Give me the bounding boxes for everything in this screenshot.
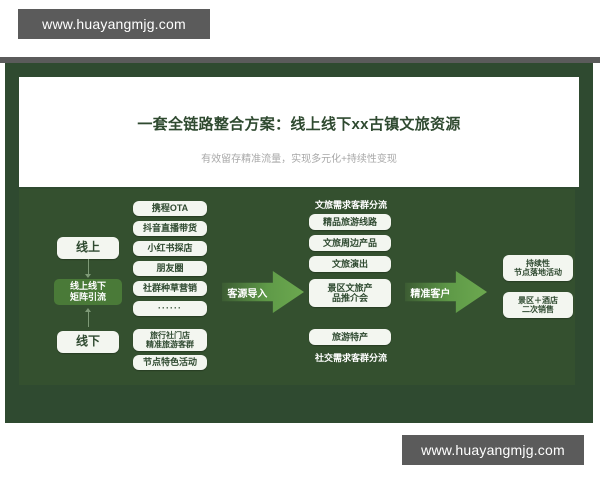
list-item: 景区文旅产 品推介会: [309, 279, 391, 307]
list-item-ellipsis: ······: [133, 301, 207, 316]
connector-offline-arrowhead: [85, 308, 91, 312]
matrix-traffic-box: 线上线下 矩阵引流: [54, 279, 122, 305]
list-item: 文旅周边产品: [309, 235, 391, 251]
arrow-source-import: 客源导入: [222, 271, 304, 313]
list-item: 文旅演出: [309, 256, 391, 272]
social-demand-caption: 社交需求客群分流: [291, 351, 411, 364]
matrix-label-line1: 线上线下: [70, 281, 106, 292]
connector-online-to-matrix: [88, 259, 89, 275]
slide-screenshot: www.huayangmjg.com 一套全链路整合方案：线上线下xx古镇文旅资…: [0, 0, 600, 480]
list-item: 社群种草营销: [133, 281, 207, 296]
list-item: 精品旅游线路: [309, 214, 391, 230]
list-item: 朋友圈: [133, 261, 207, 276]
connector-offline-to-matrix: [88, 311, 89, 327]
watermark-bottom: www.huayangmjg.com: [402, 435, 584, 465]
matrix-label-line2: 矩阵引流: [70, 292, 106, 303]
list-item: 抖音直播带货: [133, 221, 207, 236]
stage-online: 线上: [57, 237, 119, 259]
watermark-top-text: www.huayangmjg.com: [42, 16, 186, 32]
outcome-item: 持续性 节点落地活动: [503, 255, 573, 281]
culture-demand-caption: 文旅需求客群分流: [291, 198, 411, 211]
outcome-item: 景区＋酒店 二次销售: [503, 292, 573, 318]
stage-offline: 线下: [57, 331, 119, 353]
arrow-precise-customer: 精准客户: [405, 271, 487, 313]
watermark-bottom-text: www.huayangmjg.com: [421, 442, 565, 458]
page-subtitle: 有效留存精准流量，实现多元化+持续性变现: [19, 150, 579, 165]
list-item: 旅游特产: [309, 329, 391, 345]
list-item: 携程OTA: [133, 201, 207, 216]
connector-online-arrowhead: [85, 274, 91, 278]
page-title: 一套全链路整合方案：线上线下xx古镇文旅资源: [19, 113, 579, 134]
diagram-panel: 线上 线上线下 矩阵引流 线下 携程OTA 抖音直播带货 小红书探店 朋友圈: [19, 189, 575, 385]
list-item: 节点特色活动: [133, 355, 207, 370]
list-item: 小红书探店: [133, 241, 207, 256]
watermark-top: www.huayangmjg.com: [18, 9, 210, 39]
list-item: 旅行社门店 精准旅游客群: [133, 329, 207, 351]
